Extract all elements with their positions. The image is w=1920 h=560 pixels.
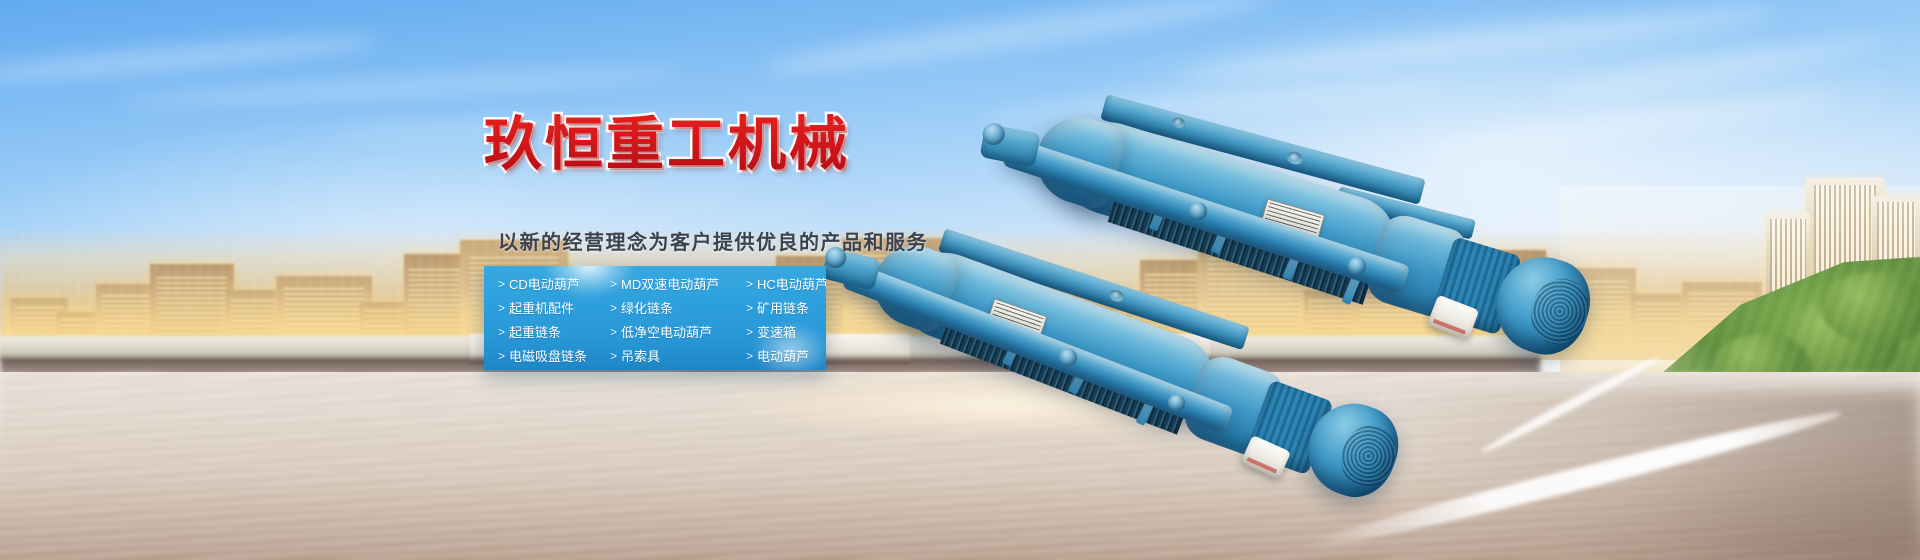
product-link-label: CD电动葫芦 [509, 278, 580, 291]
road-light-burst [620, 360, 1380, 450]
product-link-label: MD双速电动葫芦 [621, 278, 719, 291]
product-link-label: 低净空电动葫芦 [621, 326, 712, 339]
chevron-right-icon: > [610, 350, 617, 362]
product-link[interactable]: >起重链条 [498, 320, 610, 344]
chevron-right-icon: > [610, 326, 617, 338]
product-links-grid: >CD电动葫芦>MD双速电动葫芦>HC电动葫芦>起重机配件>绿化链条>矿用链条>… [484, 266, 826, 368]
chevron-right-icon: > [498, 302, 505, 314]
product-link-label: HC电动葫芦 [757, 278, 826, 291]
chevron-right-icon: > [610, 302, 617, 314]
product-link[interactable]: >电磁吸盘链条 [498, 344, 610, 368]
chevron-right-icon: > [498, 326, 505, 338]
product-link[interactable]: >吊索具 [610, 344, 746, 368]
chevron-right-icon: > [746, 302, 753, 314]
product-link-label: 起重链条 [509, 326, 561, 339]
product-links-panel: >CD电动葫芦>MD双速电动葫芦>HC电动葫芦>起重机配件>绿化链条>矿用链条>… [484, 266, 826, 370]
chevron-right-icon: > [498, 278, 505, 290]
chevron-right-icon: > [610, 278, 617, 290]
product-link-label: 起重机配件 [509, 302, 574, 315]
chevron-right-icon: > [746, 278, 753, 290]
product-link[interactable]: >起重机配件 [498, 296, 610, 320]
product-link-label: 绿化链条 [621, 302, 673, 315]
product-link-label: 吊索具 [621, 350, 660, 363]
product-link[interactable]: >矿用链条 [746, 296, 826, 320]
product-link[interactable]: >电动葫芦 [746, 344, 826, 368]
product-link-label: 电动葫芦 [757, 350, 809, 363]
chevron-right-icon: > [746, 350, 753, 362]
product-link[interactable]: >HC电动葫芦 [746, 272, 826, 296]
product-link[interactable]: >绿化链条 [610, 296, 746, 320]
page-subtitle: 以新的经营理念为客户提供优良的产品和服务 [498, 226, 928, 255]
product-link-label: 矿用链条 [757, 302, 809, 315]
product-link[interactable]: >变速箱 [746, 320, 826, 344]
chevron-right-icon: > [746, 326, 753, 338]
product-link-label: 电磁吸盘链条 [509, 350, 587, 363]
page-title: 玖恒重工机械 [484, 116, 924, 174]
chevron-right-icon: > [498, 350, 505, 362]
promotional-banner: 玖恒重工机械 玖恒重工机械 以新的经营理念为客户提供优良的产品和服务 >CD电动… [0, 0, 1920, 560]
product-link-label: 变速箱 [757, 326, 796, 339]
product-link[interactable]: >低净空电动葫芦 [610, 320, 746, 344]
product-link[interactable]: >MD双速电动葫芦 [610, 272, 746, 296]
product-link[interactable]: >CD电动葫芦 [498, 272, 610, 296]
